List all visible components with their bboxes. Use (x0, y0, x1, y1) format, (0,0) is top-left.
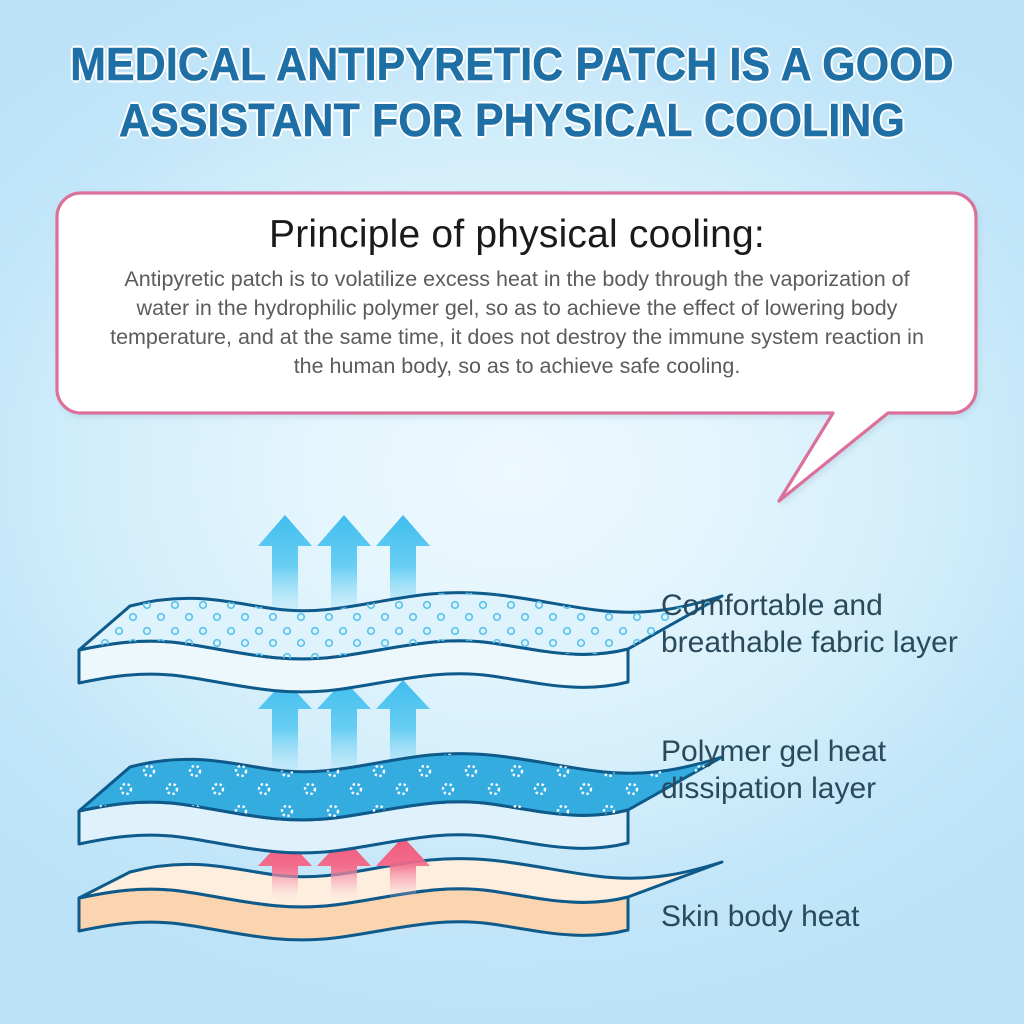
label-fabric-layer: Comfortable and breathable fabric layer (661, 587, 1011, 661)
label-gel-layer: Polymer gel heat dissipation layer (661, 733, 1011, 807)
layer-fabric (60, 515, 750, 692)
poster-canvas: MEDICAL ANTIPYRETIC PATCH IS A GOOD ASSI… (0, 0, 1024, 1024)
label-skin-layer: Skin body heat (661, 898, 1011, 935)
layer-skin (79, 837, 722, 940)
layer-gel (60, 680, 750, 853)
layer-diagram (0, 0, 1024, 1024)
